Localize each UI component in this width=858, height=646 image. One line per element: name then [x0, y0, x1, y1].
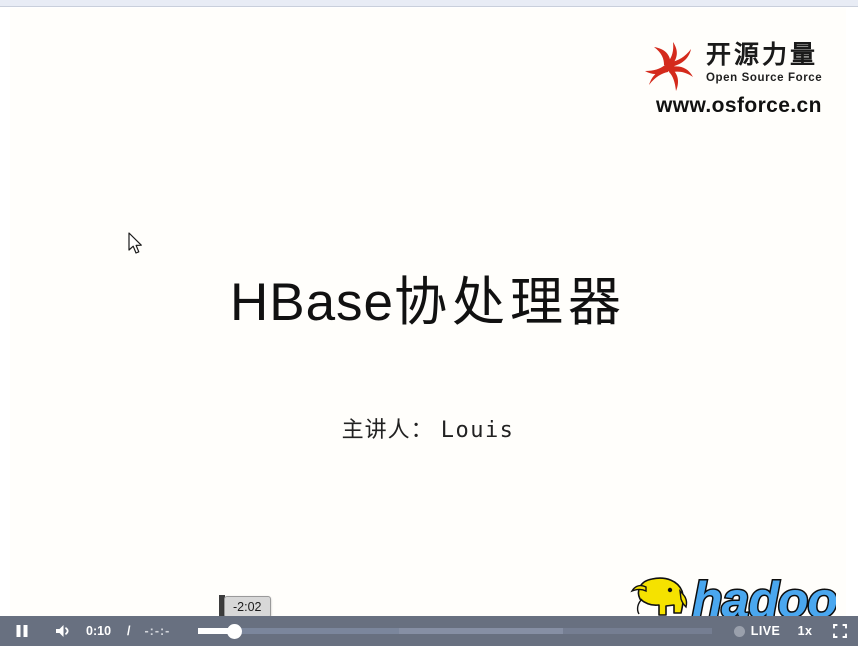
slide-canvas: 开源力量 Open Source Force www.osforce.cn HB…: [10, 8, 846, 646]
current-time-label: 0:10: [86, 624, 111, 638]
mouse-pointer-icon: [128, 232, 144, 256]
video-player[interactable]: 开源力量 Open Source Force www.osforce.cn HB…: [10, 8, 846, 646]
slide-presenter: 主讲人： Louis: [10, 412, 846, 444]
live-status-dot: [734, 626, 745, 637]
progress-scrubber-handle[interactable]: [227, 624, 242, 639]
volume-on-icon: [55, 623, 73, 639]
video-player-page: 开源力量 Open Source Force www.osforce.cn HB…: [0, 0, 858, 646]
playback-rate-label: 1x: [798, 624, 813, 638]
osforce-logo: 开源力量 Open Source Force www.osforce.cn: [642, 38, 828, 120]
fullscreen-enter-icon: [833, 624, 847, 638]
time-separator: /: [127, 624, 130, 638]
pause-icon: [15, 624, 29, 638]
slide-title-cjk: 协处理器: [394, 272, 626, 333]
osforce-swirl-icon: [642, 40, 698, 96]
live-label: LIVE: [751, 624, 780, 638]
osforce-url: www.osforce.cn: [656, 94, 822, 118]
progress-track[interactable]: [198, 628, 712, 634]
osforce-en-name: Open Source Force: [706, 72, 832, 84]
progress-buffered-a: [234, 628, 398, 634]
osforce-cn-name: 开源力量: [706, 40, 828, 70]
progress-bar[interactable]: [198, 616, 712, 646]
live-indicator[interactable]: LIVE: [726, 616, 788, 646]
progress-buffered-b: [399, 628, 563, 634]
playback-rate-button[interactable]: 1x: [788, 616, 822, 646]
fullscreen-button[interactable]: [822, 616, 858, 646]
slide-title: HBase协处理器: [10, 271, 846, 335]
scrub-time-tooltip: -2:02: [224, 596, 271, 618]
volume-button[interactable]: [44, 616, 84, 646]
slide-title-latin: HBase: [230, 273, 394, 332]
presenter-label: 主讲人：: [342, 417, 434, 442]
progress-buffered-c: [563, 628, 712, 634]
player-control-bar[interactable]: 0:10 / -:-:- LIVE 1x: [0, 616, 858, 646]
presenter-name: Louis: [441, 418, 515, 443]
duration-label: -:-:-: [145, 624, 171, 638]
play-pause-button[interactable]: [0, 616, 44, 646]
browser-top-strip: [0, 0, 858, 7]
